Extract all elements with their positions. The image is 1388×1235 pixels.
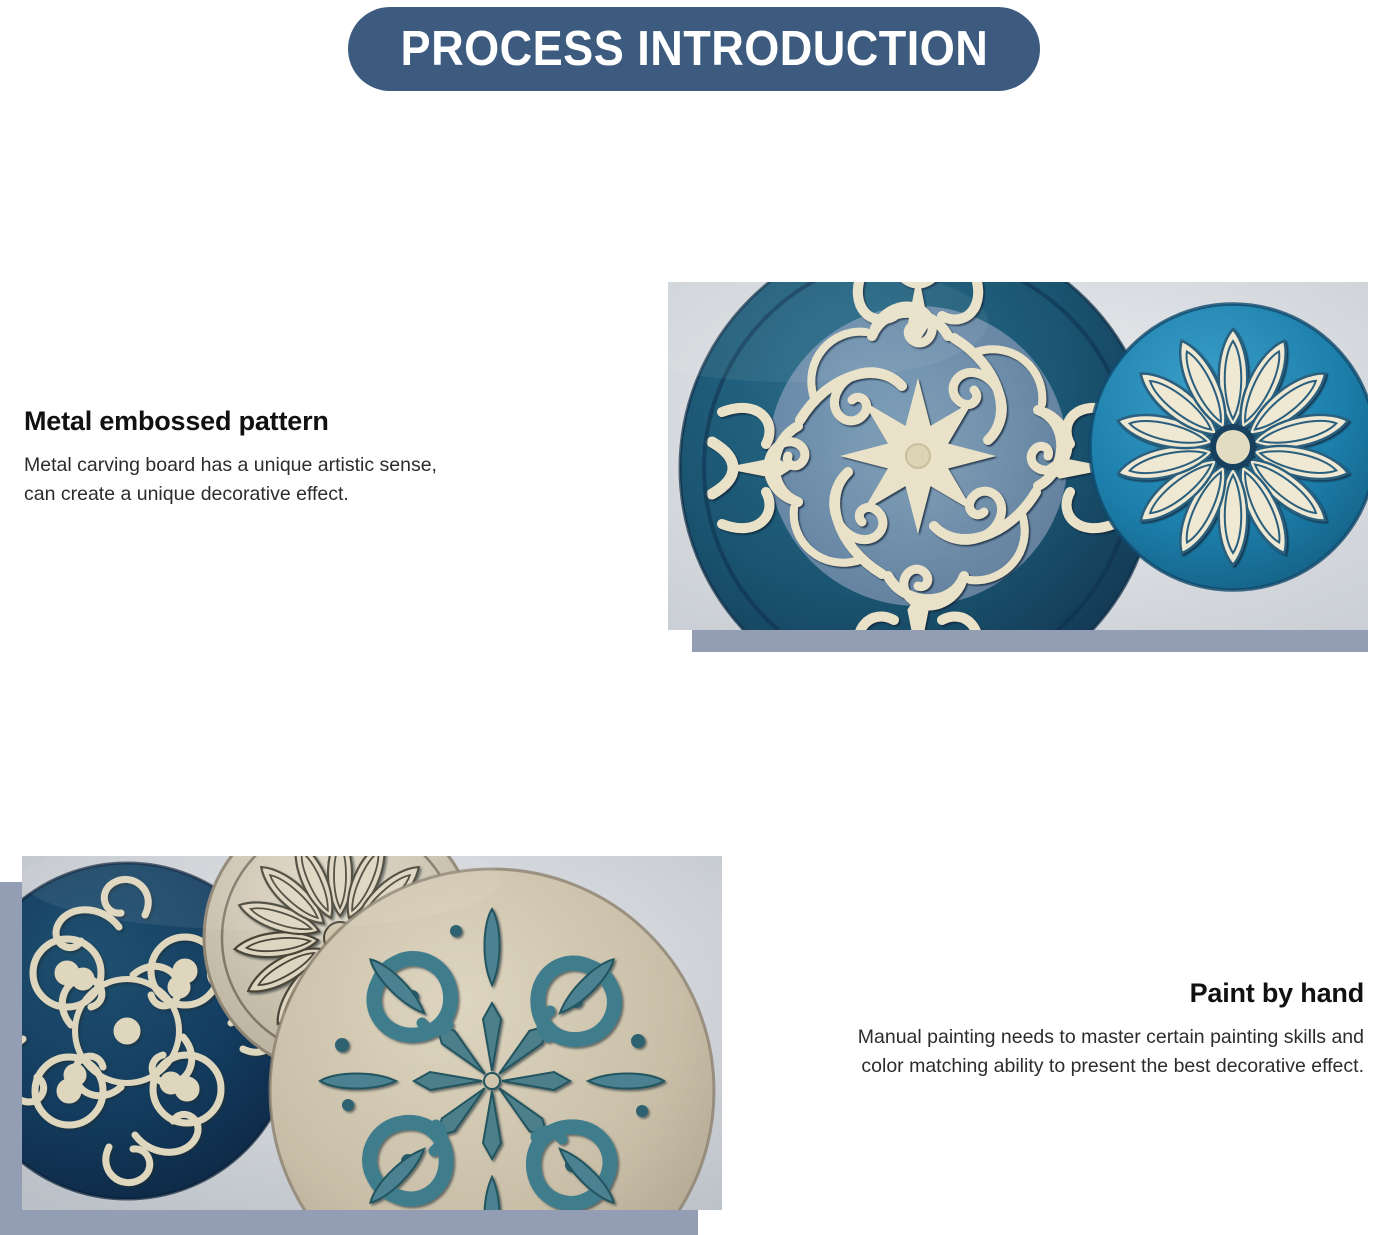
infographic-page: PROCESS INTRODUCTION bbox=[0, 0, 1388, 1235]
section-2-body: Manual painting needs to master certain … bbox=[766, 1023, 1364, 1081]
section-1-body-line-2: can create a unique decorative effect. bbox=[24, 480, 544, 509]
section-2-body-line-2: color matching ability to present the be… bbox=[766, 1052, 1364, 1081]
section-2-text-block: Paint by hand Manual painting needs to m… bbox=[766, 978, 1364, 1081]
plate-daisy bbox=[1090, 304, 1368, 590]
section-2-title: Paint by hand bbox=[766, 978, 1364, 1009]
section-1-photo bbox=[668, 282, 1368, 630]
section-1-body: Metal carving board has a unique artisti… bbox=[24, 451, 544, 509]
section-2-body-line-1: Manual painting needs to master certain … bbox=[766, 1023, 1364, 1052]
section-1-title: Metal embossed pattern bbox=[24, 406, 544, 437]
section-2-photo bbox=[22, 856, 722, 1210]
section-1-text-block: Metal embossed pattern Metal carving boa… bbox=[24, 406, 544, 509]
section-1-body-line-1: Metal carving board has a unique artisti… bbox=[24, 451, 544, 480]
header-banner: PROCESS INTRODUCTION bbox=[348, 7, 1040, 91]
page-title: PROCESS INTRODUCTION bbox=[400, 21, 988, 77]
